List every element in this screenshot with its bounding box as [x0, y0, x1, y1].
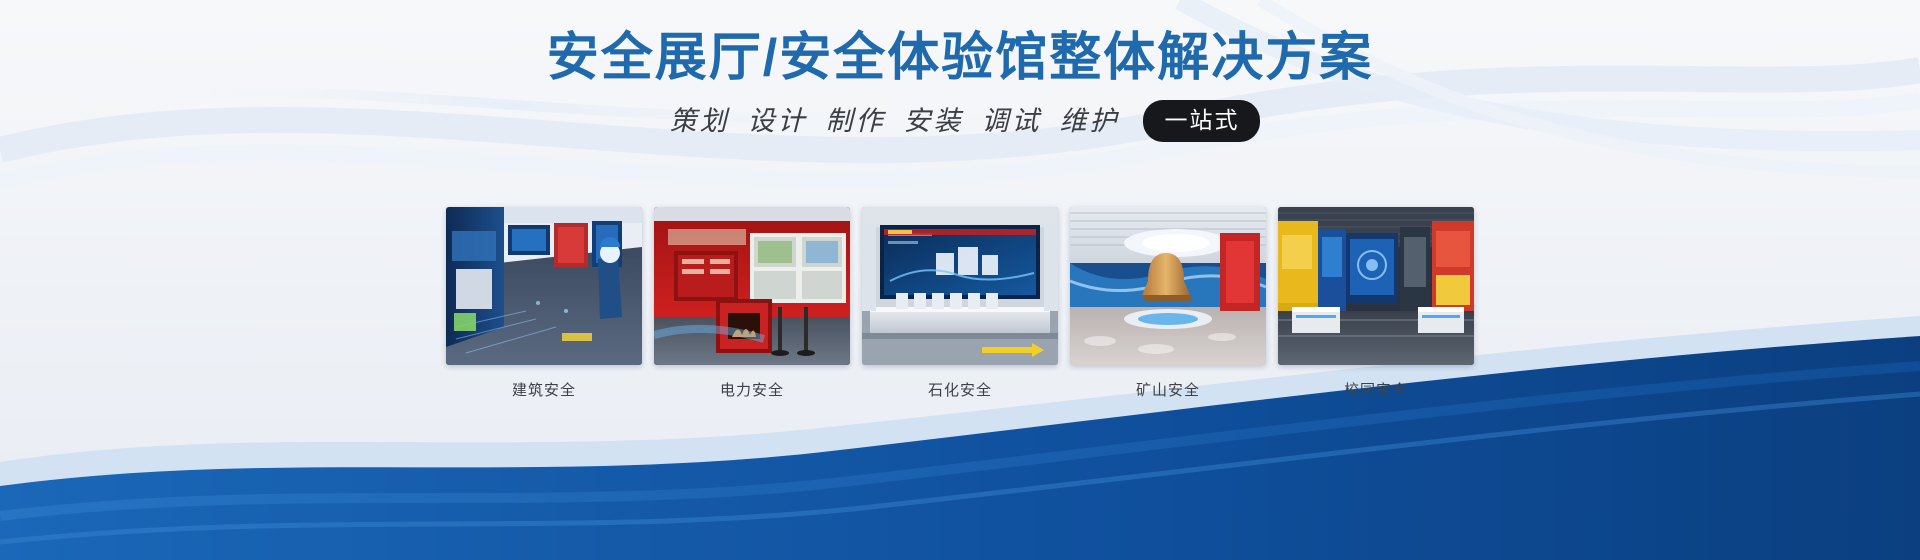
thumbnail-gallery: 建筑安全 [446, 207, 1474, 401]
thumbnail-caption: 建筑安全 [512, 381, 576, 401]
thumbnail-image-mining-safety[interactable] [1070, 207, 1266, 365]
headline-container: 安全展厅/安全体验馆整体解决方案 [0, 28, 1920, 88]
service-steps: 策划 设计 制作 安装 调试 维护 一站式 [661, 100, 1260, 142]
page-title: 安全展厅/安全体验馆整体解决方案 [547, 28, 1373, 88]
thumbnail-item[interactable]: 矿山安全 [1070, 207, 1266, 401]
thumbnail-item[interactable]: 电力安全 [654, 207, 850, 401]
one-stop-badge: 一站式 [1143, 100, 1260, 142]
service-step-design: 设计 [739, 102, 817, 140]
thumbnail-caption: 电力安全 [720, 381, 784, 401]
service-step-debug: 调试 [973, 102, 1051, 140]
service-step-install: 安装 [895, 102, 973, 140]
thumbnail-caption: 石化安全 [928, 381, 992, 401]
thumbnail-image-campus-safety[interactable] [1278, 207, 1474, 365]
service-step-production: 制作 [817, 102, 895, 140]
subtitle-container: 策划 设计 制作 安装 调试 维护 一站式 [0, 100, 1920, 142]
promo-banner: 安全展厅/安全体验馆整体解决方案 策划 设计 制作 安装 调试 维护 一站式 [0, 0, 1920, 560]
service-step-planning: 策划 [661, 102, 739, 140]
thumbnail-item[interactable]: 石化安全 [862, 207, 1058, 401]
thumbnail-item[interactable]: 校园安全 [1278, 207, 1474, 401]
thumbnail-caption: 矿山安全 [1136, 381, 1200, 401]
thumbnail-caption: 校园安全 [1344, 381, 1408, 401]
service-step-maintain: 维护 [1051, 102, 1129, 140]
thumbnail-image-construction-safety[interactable] [446, 207, 642, 365]
thumbnail-image-electric-power-safety[interactable] [654, 207, 850, 365]
thumbnail-image-petrochemical-safety[interactable] [862, 207, 1058, 365]
thumbnail-item[interactable]: 建筑安全 [446, 207, 642, 401]
